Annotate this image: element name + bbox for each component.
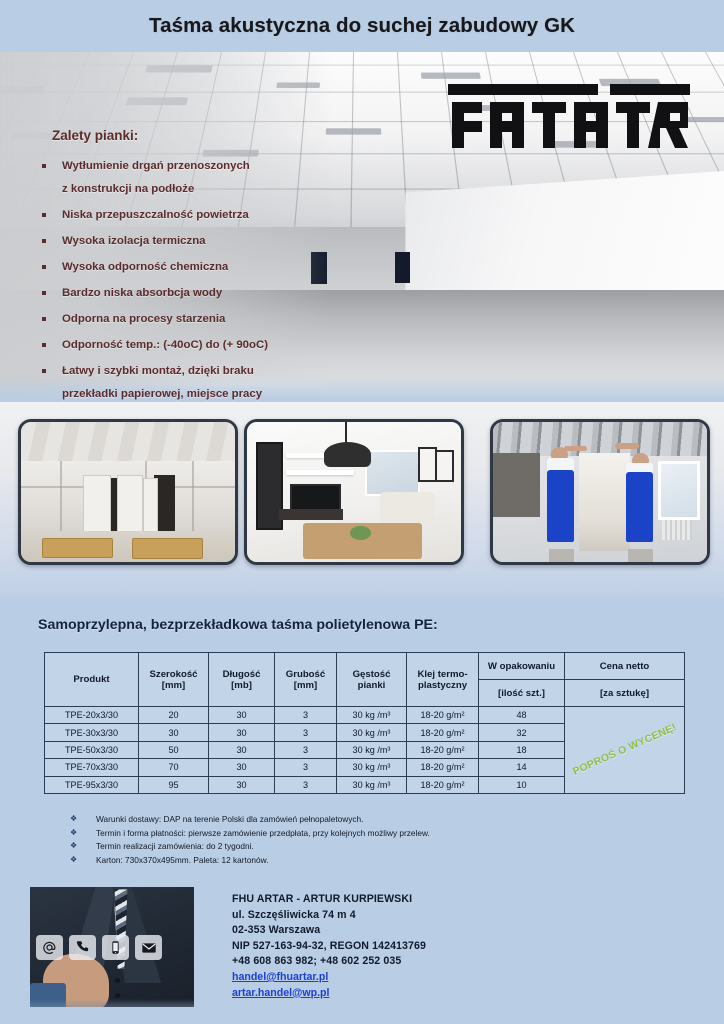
at-icon[interactable] xyxy=(36,935,63,960)
cell-opakowanie: 10 xyxy=(479,776,565,793)
th-gestosc: Gęstość pianki xyxy=(337,653,407,707)
cell-gestosc: 30 kg /m³ xyxy=(337,741,407,758)
advantage-item: Niska przepuszczalność powietrza xyxy=(40,206,325,226)
cell-dlugosc: 30 xyxy=(209,724,275,741)
cell-opakowanie: 14 xyxy=(479,759,565,776)
th-szerokosc-l1: Szerokość xyxy=(139,669,208,680)
doorway-right xyxy=(395,252,410,283)
cell-produkt: TPE-70x3/30 xyxy=(45,759,139,776)
cell-opakowanie: 48 xyxy=(479,707,565,724)
cell-klej: 18-20 g/m² xyxy=(407,741,479,758)
gallery-thumb-livingroom xyxy=(244,419,464,565)
living-room-photo xyxy=(247,422,461,562)
th-dlugosc-l1: Długość xyxy=(209,669,274,680)
cell-szerokosc: 70 xyxy=(139,759,209,776)
artar-logo xyxy=(434,78,702,152)
company-name: FHU ARTAR - ARTUR KURPIEWSKI xyxy=(232,892,692,908)
th-klej-l1: Klej termo- xyxy=(407,669,478,680)
advantage-item: Wytłumienie drgań przenoszonych xyxy=(40,157,325,177)
cell-klej: 18-20 g/m² xyxy=(407,759,479,776)
cell-dlugosc: 30 xyxy=(209,741,275,758)
price-request-stamp: POPROŚ O WYCENĘ! xyxy=(571,722,678,778)
hero-image: Zalety pianki: Wytłumienie drgań przenos… xyxy=(0,52,724,402)
th-dlugosc: Długość [mb] xyxy=(209,653,275,707)
spec-table-wrapper: Produkt Szerokość [mm] Długość [mb] Grub… xyxy=(44,652,684,794)
cell-grubosc: 3 xyxy=(275,724,337,741)
cell-produkt: TPE-30x3/30 xyxy=(45,724,139,741)
advantage-item: Łatwy i szybki montaż, dzięki braku xyxy=(40,362,325,382)
cell-szerokosc: 95 xyxy=(139,776,209,793)
th-grubosc-l1: Grubość xyxy=(275,669,336,680)
drywall-room-photo xyxy=(21,422,235,562)
note-item: Warunki dostawy: DAP na terenie Polski d… xyxy=(62,813,582,826)
cell-gestosc: 30 kg /m³ xyxy=(337,776,407,793)
contact-icon-row xyxy=(36,935,162,960)
terms-notes: Warunki dostawy: DAP na terenie Polski d… xyxy=(62,813,582,867)
advantages-block: Zalety pianki: Wytłumienie drgań przenos… xyxy=(40,128,325,402)
spec-table: Produkt Szerokość [mm] Długość [mb] Grub… xyxy=(44,652,685,794)
flyer-page: Taśma akustyczna do suchej zabudowy GK xyxy=(0,0,724,1024)
advantage-item-continuation: z konstrukcji na podłoże xyxy=(40,180,325,200)
cell-szerokosc: 50 xyxy=(139,741,209,758)
th-opakowanie-unit: [ilość szt.] xyxy=(479,680,565,707)
th-szerokosc-l2: [mm] xyxy=(139,680,208,691)
page-header: Taśma akustyczna do suchej zabudowy GK xyxy=(0,0,724,52)
company-phones: +48 608 863 982; +48 602 252 035 xyxy=(232,954,692,970)
cell-gestosc: 30 kg /m³ xyxy=(337,759,407,776)
cell-dlugosc: 30 xyxy=(209,776,275,793)
advantage-item: Bardzo niska absorbcja wody xyxy=(40,284,325,304)
businessman-photo xyxy=(30,887,194,1007)
th-opakowanie: W opakowaniu xyxy=(479,653,565,680)
cell-produkt: TPE-95x3/30 xyxy=(45,776,139,793)
th-gestosc-l1: Gęstość xyxy=(337,669,406,680)
advantages-list: Wytłumienie drgań przenoszonych z konstr… xyxy=(40,157,325,402)
cell-klej: 18-20 g/m² xyxy=(407,776,479,793)
cell-grubosc: 3 xyxy=(275,759,337,776)
advantage-item-continuation: przekładki papierowej, miejsce pracy xyxy=(40,385,325,402)
email-link-secondary[interactable]: artar.handel@wp.pl xyxy=(232,986,692,1002)
advantages-title: Zalety pianki: xyxy=(52,128,325,143)
gallery-strip xyxy=(0,402,724,597)
cell-grubosc: 3 xyxy=(275,776,337,793)
cell-produkt: TPE-20x3/30 xyxy=(45,707,139,724)
th-klej-l2: plastyczny xyxy=(407,680,478,691)
th-produkt: Produkt xyxy=(45,653,139,707)
th-cena: Cena netto xyxy=(565,653,685,680)
th-grubosc-l2: [mm] xyxy=(275,680,336,691)
company-tax-ids: NIP 527-163-94-32, REGON 142413769 xyxy=(232,939,692,955)
advantage-item: Odporna na procesy starzenia xyxy=(40,310,325,330)
cell-grubosc: 3 xyxy=(275,707,337,724)
table-header-row-1: Produkt Szerokość [mm] Długość [mb] Grub… xyxy=(45,653,685,680)
th-gestosc-l2: pianki xyxy=(337,680,406,691)
cell-klej: 18-20 g/m² xyxy=(407,724,479,741)
th-klej: Klej termo- plastyczny xyxy=(407,653,479,707)
footer-contact: FHU ARTAR - ARTUR KURPIEWSKI ul. Szczęśl… xyxy=(0,884,724,1024)
th-cena-unit: [za sztukę] xyxy=(565,680,685,707)
company-street: ul. Szczęśliwicka 74 m 4 xyxy=(232,908,692,924)
note-item: Karton: 730x370x495mm. Paleta: 12 karton… xyxy=(62,854,582,867)
cell-grubosc: 3 xyxy=(275,741,337,758)
cell-dlugosc: 30 xyxy=(209,759,275,776)
cell-gestosc: 30 kg /m³ xyxy=(337,707,407,724)
cell-szerokosc: 30 xyxy=(139,724,209,741)
advantage-item: Odporność temp.: (-40oC) do (+ 90oC) xyxy=(40,336,325,356)
cell-cena-netto: POPROŚ O WYCENĘ! xyxy=(565,707,685,794)
mobile-icon[interactable] xyxy=(102,935,129,960)
table-row: TPE-20x3/30 20 30 3 30 kg /m³ 18-20 g/m²… xyxy=(45,707,685,724)
cell-opakowanie: 32 xyxy=(479,724,565,741)
email-link-primary[interactable]: handel@fhuartar.pl xyxy=(232,970,692,986)
cell-produkt: TPE-50x3/30 xyxy=(45,741,139,758)
envelope-icon[interactable] xyxy=(135,935,162,960)
installers-photo xyxy=(493,422,707,562)
company-city: 02-353 Warszawa xyxy=(232,923,692,939)
advantage-item: Wysoka odporność chemiczna xyxy=(40,258,325,278)
th-grubosc: Grubość [mm] xyxy=(275,653,337,707)
th-dlugosc-l2: [mb] xyxy=(209,680,274,691)
cell-opakowanie: 18 xyxy=(479,741,565,758)
cell-szerokosc: 20 xyxy=(139,707,209,724)
th-szerokosc: Szerokość [mm] xyxy=(139,653,209,707)
cell-klej: 18-20 g/m² xyxy=(407,707,479,724)
gallery-thumb-drywall xyxy=(18,419,238,565)
section-subtitle: Samoprzylepna, bezprzekładkowa taśma pol… xyxy=(38,617,438,633)
phone-icon[interactable] xyxy=(69,935,96,960)
note-item: Termin i forma płatności: pierwsze zamów… xyxy=(62,827,582,840)
gallery-thumb-installers xyxy=(490,419,710,565)
advantage-item: Wysoka izolacja termiczna xyxy=(40,232,325,252)
company-details: FHU ARTAR - ARTUR KURPIEWSKI ul. Szczęśl… xyxy=(232,892,692,1001)
note-item: Termin realizacji zamówienia: do 2 tygod… xyxy=(62,840,582,853)
page-title: Taśma akustyczna do suchej zabudowy GK xyxy=(149,14,575,38)
cell-dlugosc: 30 xyxy=(209,707,275,724)
cell-gestosc: 30 kg /m³ xyxy=(337,724,407,741)
